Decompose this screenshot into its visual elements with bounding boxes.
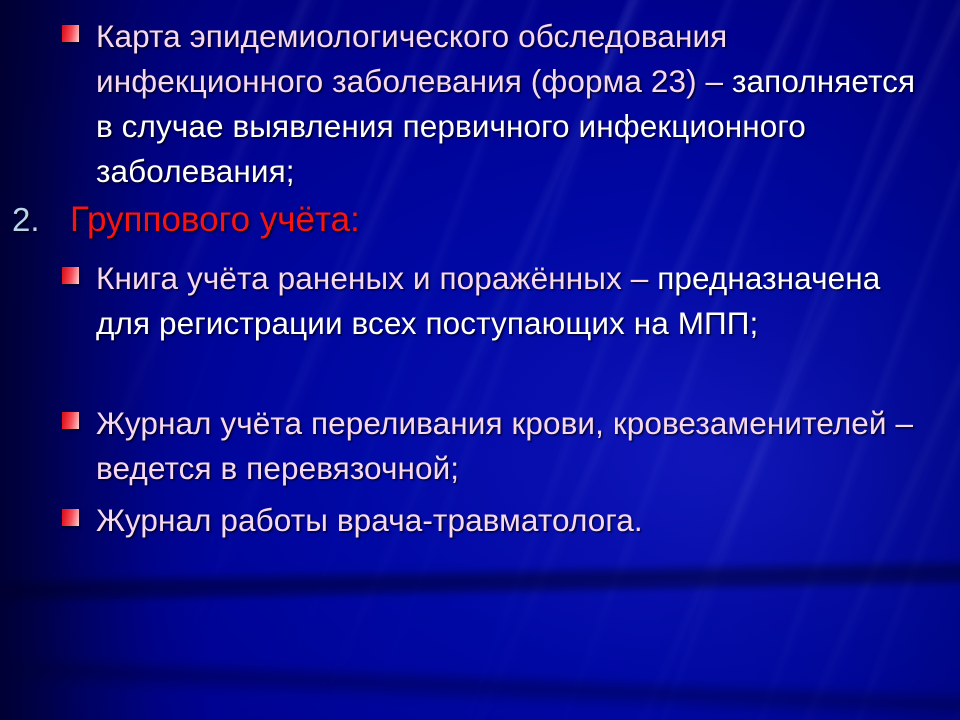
slide-content: Карта эпидемиологического обследования и… [0, 0, 960, 720]
red-square-bullet-icon [62, 267, 79, 284]
red-square-bullet-icon [62, 509, 79, 526]
bullet-line: Книга учёта раненых и поражённых – [96, 260, 648, 296]
red-square-bullet-icon [62, 25, 79, 42]
bullet-text-blood-transfusion-log: Журнал учёта переливания крови, кровезам… [96, 401, 922, 491]
red-square-bullet-icon [62, 412, 79, 429]
section-heading-group-accounting: Группового учёта: [70, 198, 360, 242]
bullet-item-blood-transfusion-log: Журнал учёта переливания крови, кровезам… [62, 401, 922, 491]
bullet-text-book-of-wounded: Книга учёта раненых и поражённых – предн… [96, 256, 892, 346]
bullet-line: поступающих на МПП; [425, 305, 758, 341]
bullet-text-traumatologist-log: Журнал работы врача-травматолога. [96, 498, 643, 543]
bullet-line: Журнал учёта переливания крови, [96, 405, 604, 441]
bullet-line: Карта эпидемиологического обследования [96, 18, 727, 54]
bullet-item-book-of-wounded: Книга учёта раненых и поражённых – предн… [62, 256, 892, 346]
bullet-text-epidemiological-survey: Карта эпидемиологического обследования и… [96, 14, 922, 194]
bullet-line: Журнал работы врача-травматолога. [96, 502, 643, 538]
bullet-item-epidemiological-survey: Карта эпидемиологического обследования и… [62, 14, 922, 194]
bullet-line: инфекционного заболевания (форма 23) – [96, 63, 723, 99]
bullet-item-traumatologist-log: Журнал работы врача-травматолога. [62, 498, 922, 543]
numbered-item-group-accounting: 2. Группового учёта: [12, 198, 892, 242]
list-number: 2. [12, 198, 70, 242]
presentation-slide: Карта эпидемиологического обследования и… [0, 0, 960, 720]
